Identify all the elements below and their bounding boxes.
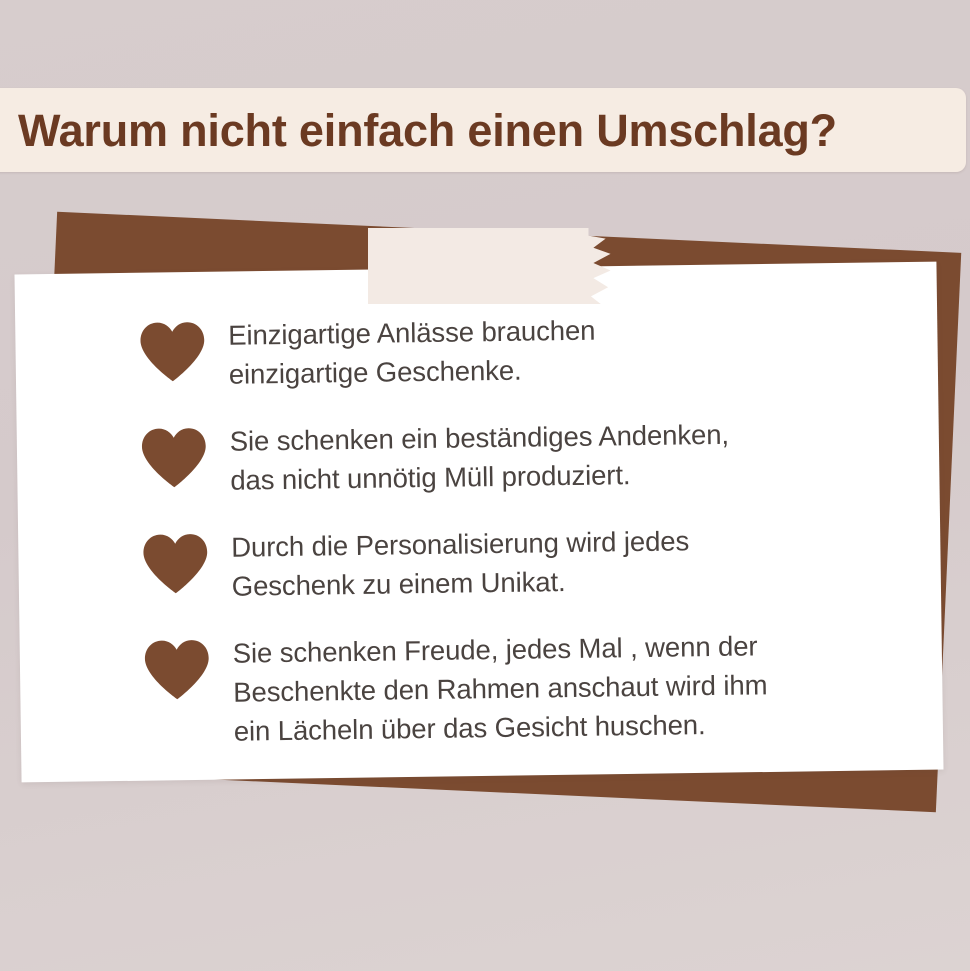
heart-icon <box>138 320 207 383</box>
washi-tape-icon <box>368 228 613 304</box>
list-item-text: Sie schenken ein beständiges Andenken, d… <box>229 413 729 500</box>
list-item: Sie schenken ein beständiges Andenken, d… <box>139 411 880 501</box>
list-item: Durch die Personalisierung wird jedes Ge… <box>141 517 882 607</box>
list-item-text: Sie schenken Freude, jedes Mal , wenn de… <box>232 625 768 752</box>
list-item-text: Durch die Personalisierung wird jedes Ge… <box>231 520 690 606</box>
list-item: Sie schenken Freude, jedes Mal , wenn de… <box>142 623 884 752</box>
benefits-list: Einzigartige Anlässe brauchen einzigarti… <box>138 305 884 753</box>
slide-canvas: Warum nicht einfach einen Umschlag? Einz… <box>0 0 970 971</box>
list-item-text: Einzigartige Anlässe brauchen einzigarti… <box>228 309 596 394</box>
list-item: Einzigartige Anlässe brauchen einzigarti… <box>138 305 879 395</box>
page-title: Warum nicht einfach einen Umschlag? <box>0 108 837 153</box>
heart-icon <box>141 532 210 595</box>
heart-icon <box>140 426 209 489</box>
header-band: Warum nicht einfach einen Umschlag? <box>0 88 966 172</box>
heart-icon <box>143 638 212 701</box>
